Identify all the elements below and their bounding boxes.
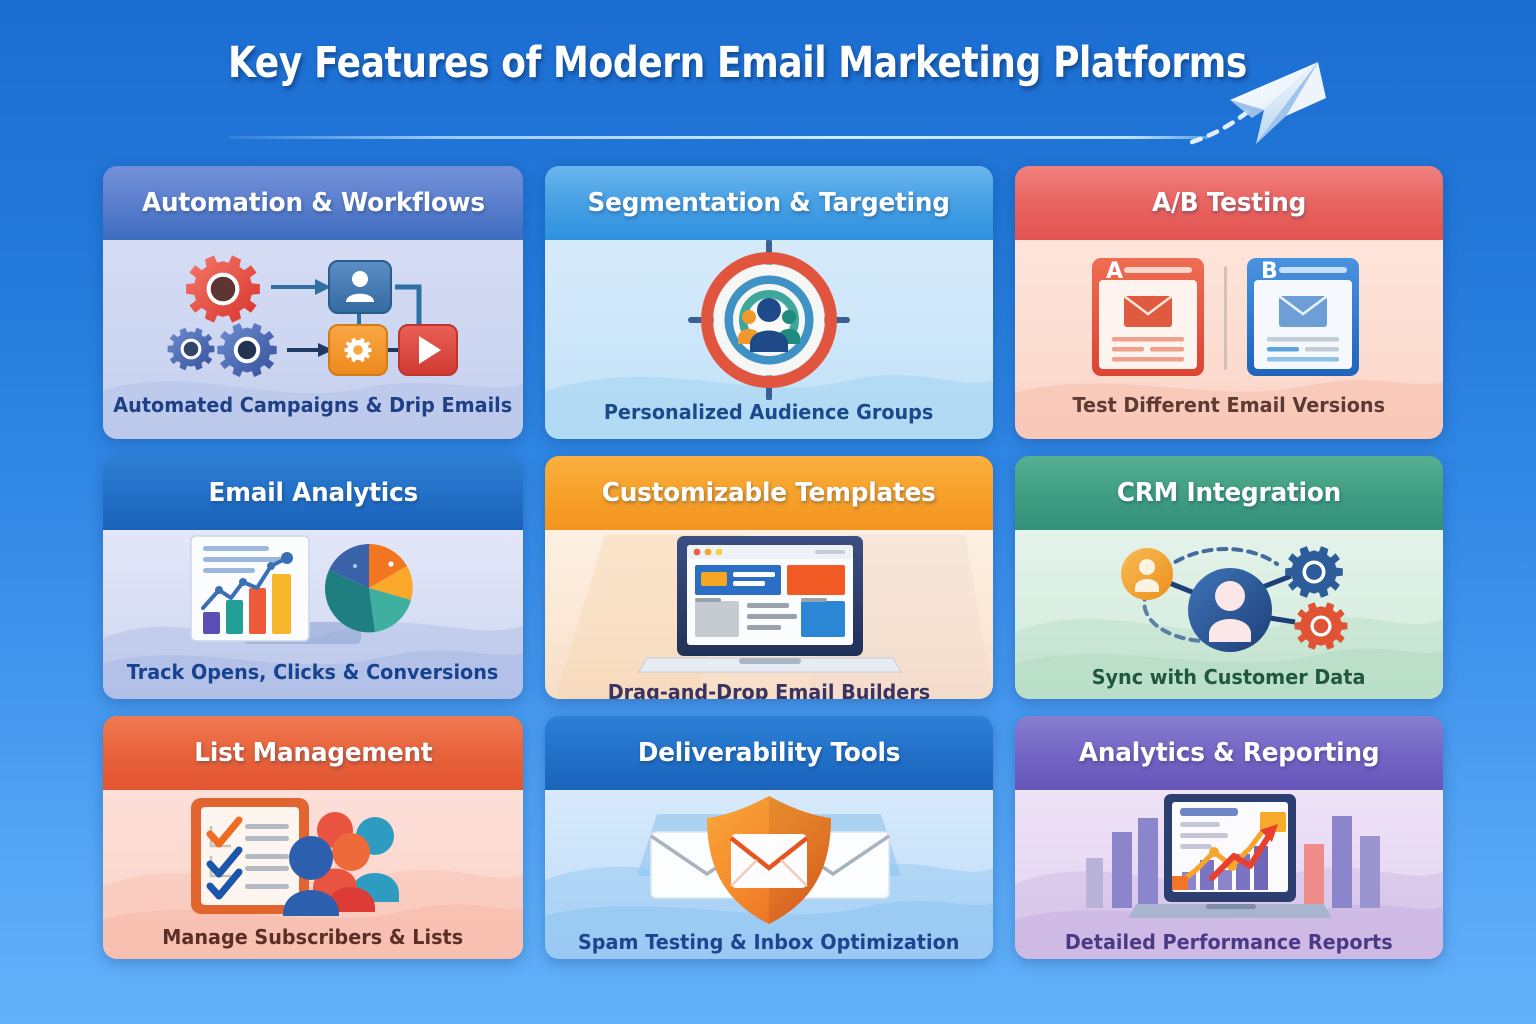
card-customizable-templates[interactable]: Customizable Templates: [545, 456, 993, 699]
card-caption: Spam Testing & Inbox Optimization: [578, 930, 959, 959]
card-caption: Drag-and-Drop Email Builders: [608, 680, 931, 699]
card-title: CRM Integration: [1117, 478, 1341, 508]
workflow-gears-icon: [103, 240, 523, 393]
title-container: Key Features of Modern Email Marketing P…: [228, 32, 1208, 112]
card-segmentation-targeting[interactable]: Segmentation & Targeting: [545, 166, 993, 439]
analytics-chart-graphic: [183, 530, 443, 660]
card-body-segmentation-targeting: Personalized Audience Groups: [545, 240, 993, 439]
card-caption: Track Opens, Clicks & Conversions: [127, 660, 499, 699]
card-automation-workflows[interactable]: Automation & Workflows: [103, 166, 523, 439]
card-header-customizable-templates: Customizable Templates: [545, 456, 993, 530]
card-title: Deliverability Tools: [638, 738, 900, 768]
infographic-header: Key Features of Modern Email Marketing P…: [0, 32, 1536, 132]
card-header-list-management: List Management: [103, 716, 523, 790]
bar-pie-chart-icon: [103, 530, 523, 660]
target-audience-icon: [545, 240, 993, 400]
card-header-email-analytics: Email Analytics: [103, 456, 523, 530]
card-email-analytics[interactable]: Email Analytics: [103, 456, 523, 699]
card-caption: Personalized Audience Groups: [604, 400, 933, 439]
title-underline-rule: [228, 136, 1208, 139]
card-crm-integration[interactable]: CRM Integration: [1015, 456, 1443, 699]
card-title: Analytics & Reporting: [1079, 738, 1379, 768]
ab-split-email-icon: A B: [1015, 240, 1443, 393]
card-caption: Manage Subscribers & Lists: [163, 925, 464, 959]
card-header-automation-workflows: Automation & Workflows: [103, 166, 523, 240]
contacts-gears-sync-icon: [1015, 530, 1443, 665]
card-title: Customizable Templates: [602, 478, 936, 508]
checklist-people-icon: [103, 790, 523, 925]
card-title: Email Analytics: [208, 478, 418, 508]
card-header-ab-testing: A/B Testing: [1015, 166, 1443, 240]
card-body-ab-testing: A B: [1015, 240, 1443, 439]
card-caption: Sync with Customer Data: [1092, 665, 1366, 699]
card-body-automation-workflows: Automated Campaigns & Drip Emails: [103, 240, 523, 439]
card-body-email-analytics: Track Opens, Clicks & Conversions: [103, 530, 523, 699]
card-title: List Management: [194, 738, 432, 768]
card-body-deliverability-tools: Spam Testing & Inbox Optimization: [545, 790, 993, 959]
laptop-template-builder-icon: [545, 530, 993, 680]
card-caption: Automated Campaigns & Drip Emails: [114, 393, 513, 439]
card-caption: Detailed Performance Reports: [1065, 930, 1393, 959]
card-header-analytics-reporting: Analytics & Reporting: [1015, 716, 1443, 790]
card-title: Segmentation & Targeting: [588, 188, 950, 218]
card-list-management[interactable]: List Management: [103, 716, 523, 959]
card-header-crm-integration: CRM Integration: [1015, 456, 1443, 530]
card-analytics-reporting[interactable]: Analytics & Reporting: [1015, 716, 1443, 959]
card-caption: Test Different Email Versions: [1073, 393, 1386, 439]
card-body-crm-integration: Sync with Customer Data: [1015, 530, 1443, 699]
card-body-list-management: Manage Subscribers & Lists: [103, 790, 523, 959]
card-header-segmentation-targeting: Segmentation & Targeting: [545, 166, 993, 240]
page-title: Key Features of Modern Email Marketing P…: [228, 32, 1139, 94]
feature-card-grid: Automation & Workflows: [103, 166, 1433, 959]
card-body-analytics-reporting: Detailed Performance Reports: [1015, 790, 1443, 959]
card-deliverability-tools[interactable]: Deliverability Tools: [545, 716, 993, 959]
reporting-chart-graphic: [1064, 790, 1394, 930]
card-header-deliverability-tools: Deliverability Tools: [545, 716, 993, 790]
card-title: Automation & Workflows: [142, 188, 485, 218]
variant-b-label: B: [1261, 259, 1278, 284]
shield-envelope-icon: [545, 790, 993, 930]
card-title: A/B Testing: [1152, 188, 1306, 218]
laptop-growth-chart-icon: [1015, 790, 1443, 930]
card-ab-testing[interactable]: A/B Testing: [1015, 166, 1443, 439]
card-body-customizable-templates: Drag-and-Drop Email Builders: [545, 530, 993, 699]
variant-a-label: A: [1106, 259, 1123, 284]
paper-plane-icon: [1190, 50, 1350, 165]
